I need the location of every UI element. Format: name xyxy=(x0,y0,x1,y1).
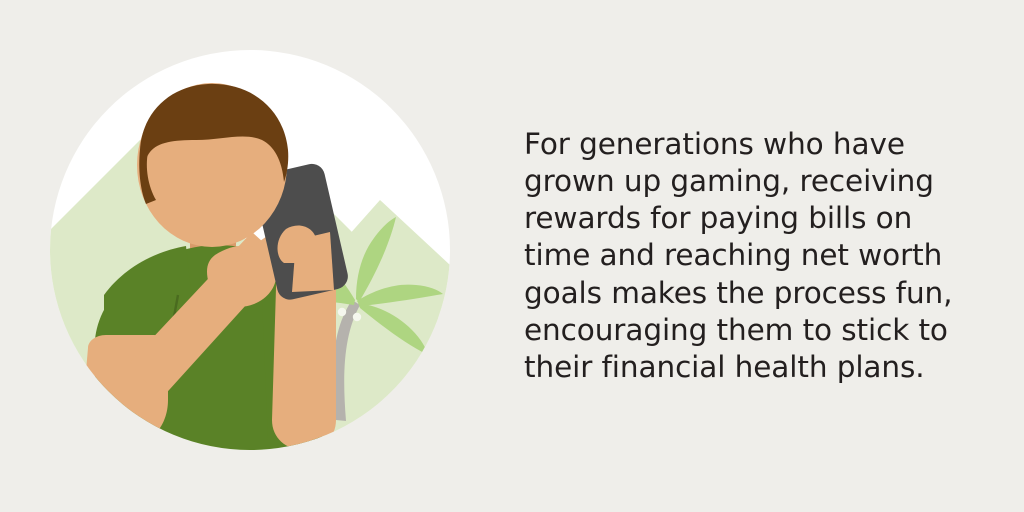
quote-panel: For generations who have grown up gaming… xyxy=(524,0,984,512)
illustration-graphic xyxy=(0,0,500,512)
coconut-left xyxy=(338,308,346,316)
coconut-right xyxy=(353,313,361,321)
holding-fingers xyxy=(292,232,334,292)
illustration-panel xyxy=(0,0,500,512)
quote-text: For generations who have grown up gaming… xyxy=(524,126,952,386)
right-arm xyxy=(272,272,336,450)
quote-card: For generations who have grown up gaming… xyxy=(0,0,1024,512)
